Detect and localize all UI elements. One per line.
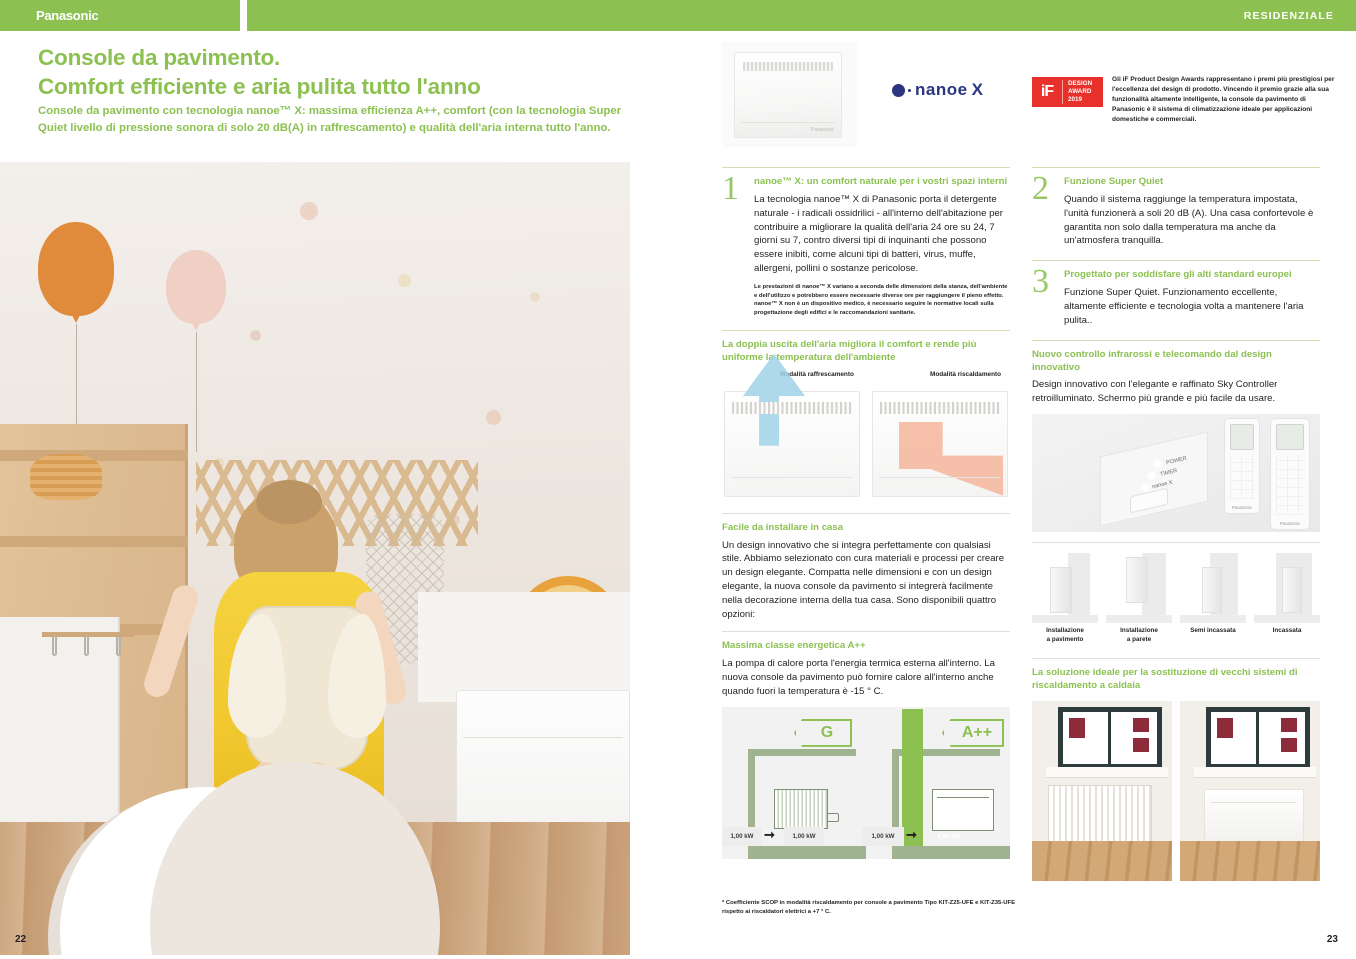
remote-block: Nuovo controllo infrarossi e telecomando… xyxy=(1032,349,1320,533)
floor-shape xyxy=(1180,615,1246,623)
shutter xyxy=(1133,718,1149,732)
window xyxy=(1206,707,1310,769)
chart-group-electric: G 1,00 kW ➞ 1,00 kW xyxy=(722,707,866,859)
remote-body: Design innovativo con l'elegante e raffi… xyxy=(1032,378,1320,406)
balloon-pink xyxy=(166,250,226,324)
mode-label-heating: Modalità riscaldamento xyxy=(930,371,1001,378)
house-ground xyxy=(892,846,1010,859)
install-option-label: Installazionea pavimento xyxy=(1032,627,1098,644)
feature-title: Funzione Super Quiet xyxy=(1064,176,1320,189)
if-award-description: Gli iF Product Design Awards rappresenta… xyxy=(1112,75,1338,125)
feature-3: 3 Progettato per soddisfare gli alti sta… xyxy=(1032,269,1320,327)
feature-number: 1 xyxy=(722,172,739,206)
console-base-seam xyxy=(879,477,1001,478)
shutter xyxy=(1281,738,1297,752)
child-hair-bun xyxy=(256,480,322,524)
install-illustration xyxy=(1254,551,1320,623)
if-design-award-badge: iF DESIGN AWARD 2019 xyxy=(1032,77,1103,107)
console-seam xyxy=(463,737,623,738)
feature-2: 2 Funzione Super Quiet Quando il sistema… xyxy=(1032,176,1320,248)
woven-basket xyxy=(30,454,102,500)
window xyxy=(1058,707,1162,769)
console-shape xyxy=(1050,567,1072,613)
console-vent xyxy=(880,402,1000,414)
replacement-title: La soluzione ideale per la sostituzione … xyxy=(1032,667,1320,693)
energy-class-badge-app: A++ xyxy=(942,719,1004,747)
install-option-label: Incassata xyxy=(1254,627,1320,636)
mode-label-cooling: Modalità raffrescamento xyxy=(780,371,854,378)
nanoe-logo-x: X xyxy=(972,80,983,100)
nanoe-x-logo: nanoe X xyxy=(892,79,1012,101)
divider xyxy=(1032,542,1320,543)
console-vent xyxy=(732,402,852,414)
led-nanoe-icon xyxy=(1142,484,1149,491)
replacement-block: La soluzione ideale per la sostituzione … xyxy=(1032,667,1320,881)
console-heating-unit xyxy=(872,391,1008,497)
install-option-floor: Installazionea pavimento xyxy=(1032,551,1098,644)
shutter xyxy=(1133,738,1149,752)
left-page: Console da pavimento. Comfort efficiente… xyxy=(0,31,680,959)
console-grille xyxy=(743,62,833,71)
chart-label-output-right: 4,60 kW xyxy=(928,827,970,846)
console-shape xyxy=(1126,557,1148,603)
chart-label-input-right: 1,00 kW xyxy=(862,827,904,846)
console-shape xyxy=(1282,567,1302,613)
heat-airflow-arrow-icon xyxy=(899,422,1003,496)
headline-line-1: Console da pavimento. xyxy=(38,44,658,73)
install-title: Facile da installare in casa xyxy=(722,522,1010,535)
hook-icon xyxy=(84,636,89,656)
balloon-string xyxy=(76,324,77,434)
console-shape xyxy=(1202,567,1222,613)
led-timer-icon xyxy=(1148,472,1155,479)
child-backpack xyxy=(246,606,368,770)
brochure-spread: Panasonic RESIDENZIALE Console da pavime… xyxy=(0,0,1356,959)
divider xyxy=(1032,167,1320,168)
balloon-orange xyxy=(38,222,114,316)
hero-photo: Panasonic xyxy=(0,162,630,955)
arrow-right-icon: ➞ xyxy=(764,827,775,843)
house-ground xyxy=(748,846,866,859)
divider xyxy=(1032,260,1320,261)
remote-brand: Panasonic xyxy=(1271,521,1309,526)
nanoe-dot-icon xyxy=(892,84,905,97)
window-sill xyxy=(1046,767,1168,778)
old-radiator xyxy=(1048,785,1152,843)
if-logo-mark: iF xyxy=(1032,77,1062,107)
install-block: Facile da installare in casa Un design i… xyxy=(722,522,1010,622)
install-body: Un design innovativo che si integra perf… xyxy=(722,539,1010,622)
wall-dot xyxy=(486,410,501,425)
install-option-label: Installazionea parete xyxy=(1106,627,1172,644)
feature-body: Funzione Super Quiet. Funzionamento ecce… xyxy=(1064,286,1320,327)
cool-airflow-arrow-icon xyxy=(743,354,805,446)
balloon-string xyxy=(196,332,197,452)
right-page: Panasonic nanoe X iF DESIGN AWARD 2019 G… xyxy=(680,31,1356,959)
page-number-right: 23 xyxy=(1327,934,1338,945)
room-floor xyxy=(1032,841,1172,881)
wall-dot xyxy=(398,274,411,287)
dual-air-title: La doppia uscita dell'aria migliora il c… xyxy=(722,339,1010,365)
infrared-remote[interactable]: Panasonic xyxy=(1270,418,1310,530)
feature-1: 1 nanoe™ X: un comfort naturale per i vo… xyxy=(722,176,1010,318)
install-option-label: Semi incassata xyxy=(1180,627,1246,636)
section-tag: RESIDENZIALE xyxy=(1244,10,1334,22)
chart-label-input-left: 1,00 kW xyxy=(722,827,762,846)
feature-number: 2 xyxy=(1032,172,1049,206)
arrow-right-icon: ➞ xyxy=(906,827,917,843)
divider xyxy=(722,513,1010,514)
feature-body: Quando il sistema raggiunge la temperatu… xyxy=(1064,193,1320,248)
install-illustration xyxy=(1032,551,1098,623)
energy-title: Massima classe energetica A++ xyxy=(722,640,1010,653)
right-page-column-right: 2 Funzione Super Quiet Quando il sistema… xyxy=(1032,167,1320,891)
energy-body: La pompa di calore porta l'energia termi… xyxy=(722,657,1010,698)
console-icon xyxy=(932,789,994,831)
wall-dot xyxy=(530,292,540,302)
divider xyxy=(722,167,1010,168)
if-award-line-1: DESIGN xyxy=(1068,80,1092,88)
window-sill xyxy=(1194,767,1316,778)
remote-keypad[interactable] xyxy=(1276,455,1304,515)
energy-block: Massima classe energetica A++ La pompa d… xyxy=(722,640,1010,858)
house-ceiling xyxy=(748,749,856,756)
shutter xyxy=(1281,718,1297,732)
shutter xyxy=(1217,718,1233,738)
wall-dot xyxy=(300,202,318,220)
panasonic-logo: Panasonic xyxy=(36,8,98,23)
divider xyxy=(722,330,1010,331)
top-bar-right-block xyxy=(247,0,1356,31)
install-option-recessed: Incassata xyxy=(1254,551,1320,644)
hook-icon xyxy=(116,636,121,656)
divider xyxy=(1032,658,1320,659)
control-panel xyxy=(1100,432,1208,527)
install-illustration xyxy=(1106,551,1172,623)
chart-label-output-left: 1,00 kW xyxy=(784,827,824,846)
shutter xyxy=(1069,718,1085,738)
remote-keypad[interactable] xyxy=(1230,455,1254,499)
energy-class-badge-g: G xyxy=(794,719,852,747)
page-title: Console da pavimento. Comfort efficiente… xyxy=(38,44,658,102)
chart-group-console: A++ 1,00 kW ➞ 4,60 kW xyxy=(866,707,1010,859)
floor-shape xyxy=(1032,615,1098,623)
console-base-seam xyxy=(731,477,853,478)
wall-panel xyxy=(418,592,630,702)
if-award-line-2: AWARD xyxy=(1068,88,1092,96)
air-mode-figure: Modalità raffrescamento Modalità riscald… xyxy=(722,371,1010,503)
feature-title: nanoe™ X: un comfort naturale per i vost… xyxy=(754,176,1010,189)
if-award-line-3: 2019 xyxy=(1068,96,1092,104)
sky-controller-remote[interactable]: Panasonic xyxy=(1224,418,1260,514)
divider xyxy=(722,631,1010,632)
install-option-wall: Installazionea parete xyxy=(1106,551,1172,644)
divider xyxy=(1032,340,1320,341)
new-floor-console xyxy=(1204,789,1304,843)
energy-comparison-chart: G 1,00 kW ➞ 1,00 kW A++ 1,00 xyxy=(722,707,1010,859)
product-photo: Panasonic xyxy=(722,42,857,147)
console-cooling-unit xyxy=(724,391,860,497)
floor-shape xyxy=(1106,615,1172,623)
console-brandmark: Panasonic xyxy=(811,127,834,133)
console-lower-seam xyxy=(741,122,835,123)
floor-console-product: Panasonic xyxy=(734,52,842,138)
remote-screen xyxy=(1276,424,1304,450)
if-award-lines: DESIGN AWARD 2019 xyxy=(1062,80,1092,104)
nanoe-logo-word: nanoe xyxy=(915,80,968,100)
kitchen-cabinet xyxy=(0,617,120,847)
wall-dot xyxy=(250,330,261,341)
remote-title: Nuovo controllo infrarossi e telecomando… xyxy=(1032,349,1320,375)
remote-screen xyxy=(1230,424,1254,450)
top-bar: Panasonic RESIDENZIALE xyxy=(0,0,1356,31)
before-after-photos xyxy=(1032,701,1320,881)
right-page-column-left: 1 nanoe™ X: un comfort naturale per i vo… xyxy=(722,167,1010,869)
install-illustration xyxy=(1180,551,1246,623)
feature-fineprint: Le prestazioni di nanoe™ X variano a sec… xyxy=(754,283,1010,318)
photo-old-radiator xyxy=(1032,701,1172,881)
shelf-board xyxy=(0,536,188,547)
page-number-left: 22 xyxy=(15,934,26,945)
floor-shape xyxy=(1254,615,1320,623)
led-power-icon xyxy=(1154,460,1161,467)
feature-body: La tecnologia nanoe™ X di Panasonic port… xyxy=(754,193,1010,276)
install-option-semi-recessed: Semi incassata xyxy=(1180,551,1246,644)
backpack-wing-right xyxy=(328,614,386,738)
sky-controller-photo: POWER TIMER nanoe X Panasonic Panasonic xyxy=(1032,414,1320,532)
dual-air-block: La doppia uscita dell'aria migliora il c… xyxy=(722,339,1010,503)
page-subtitle: Console da pavimento con tecnologia nano… xyxy=(38,103,644,136)
headline-line-2: Comfort efficiente e aria pulita tutto l… xyxy=(38,73,658,102)
installation-options: Installazionea pavimento Installazionea … xyxy=(1032,551,1320,644)
feature-title: Progettato per soddisfare gli alti stand… xyxy=(1064,269,1320,282)
energy-bar-green xyxy=(902,709,923,846)
scop-footnote: * Coefficiente SCOP in modalità riscalda… xyxy=(722,899,1022,917)
photo-new-console xyxy=(1180,701,1320,881)
feature-number: 3 xyxy=(1032,265,1049,299)
radiator-icon xyxy=(774,789,828,829)
hook-icon xyxy=(52,636,57,656)
remote-brand: Panasonic xyxy=(1225,505,1259,510)
room-floor xyxy=(1180,841,1320,881)
